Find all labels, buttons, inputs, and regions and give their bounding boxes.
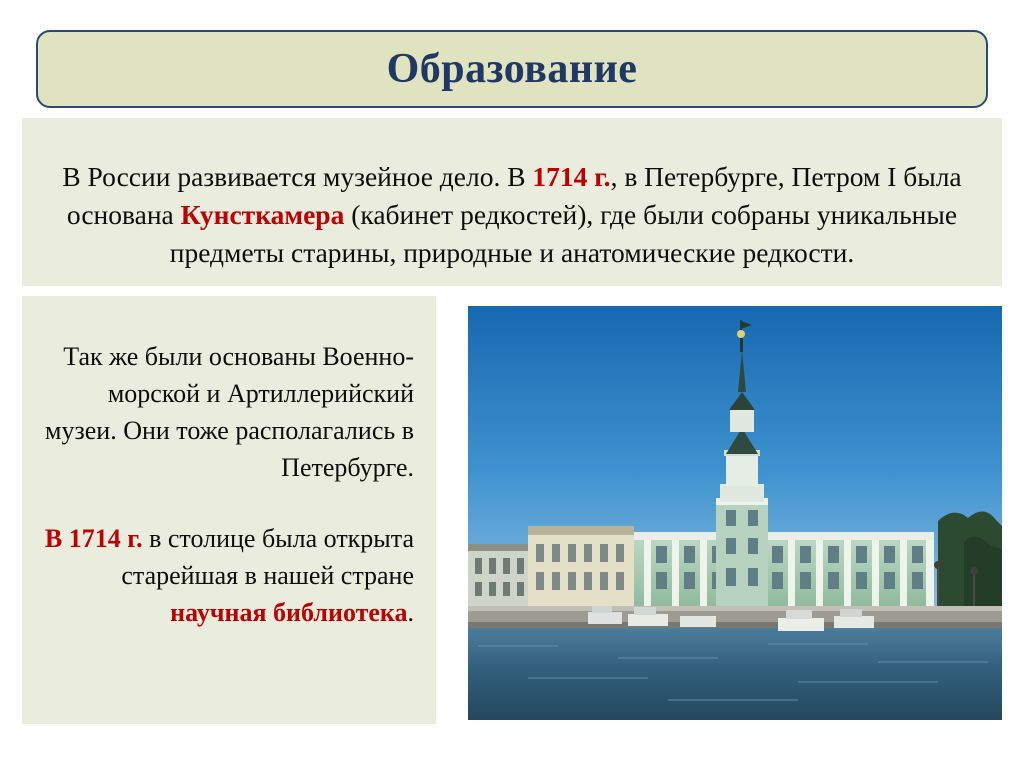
- left-text-panel: Так же были основаны Военно-морской и Ар…: [22, 296, 436, 724]
- left-prefix-v: В: [45, 524, 69, 553]
- page-title: Образование: [387, 48, 638, 90]
- left-paragraph-1: Так же были основаны Военно-морской и Ар…: [44, 338, 414, 486]
- left-text-middle: в столице была открыта старейшая в нашей…: [121, 524, 414, 590]
- left-year-1714: 1714 г.: [69, 524, 143, 553]
- intro-year-1714: 1714 г.: [532, 161, 610, 192]
- intro-text-part1: В России развивается музейное дело. В: [62, 161, 532, 192]
- intro-highlight-kunstkamera: Кунсткамера: [181, 199, 345, 230]
- left-paragraph-2: В 1714 г. в столице была открыта старейш…: [44, 520, 414, 631]
- slide-title-box: Образование: [36, 30, 988, 108]
- kunstkamera-illustration: [468, 306, 1002, 720]
- intro-paragraph: В России развивается музейное дело. В 17…: [48, 158, 976, 272]
- intro-panel: В России развивается музейное дело. В 17…: [22, 118, 1002, 286]
- slide: Образование В России развивается музейно…: [0, 0, 1024, 767]
- kunstkamera-photo: [468, 306, 1002, 720]
- left-highlight-library: научная библиотека: [170, 598, 407, 627]
- left-text-suffix: .: [408, 598, 415, 627]
